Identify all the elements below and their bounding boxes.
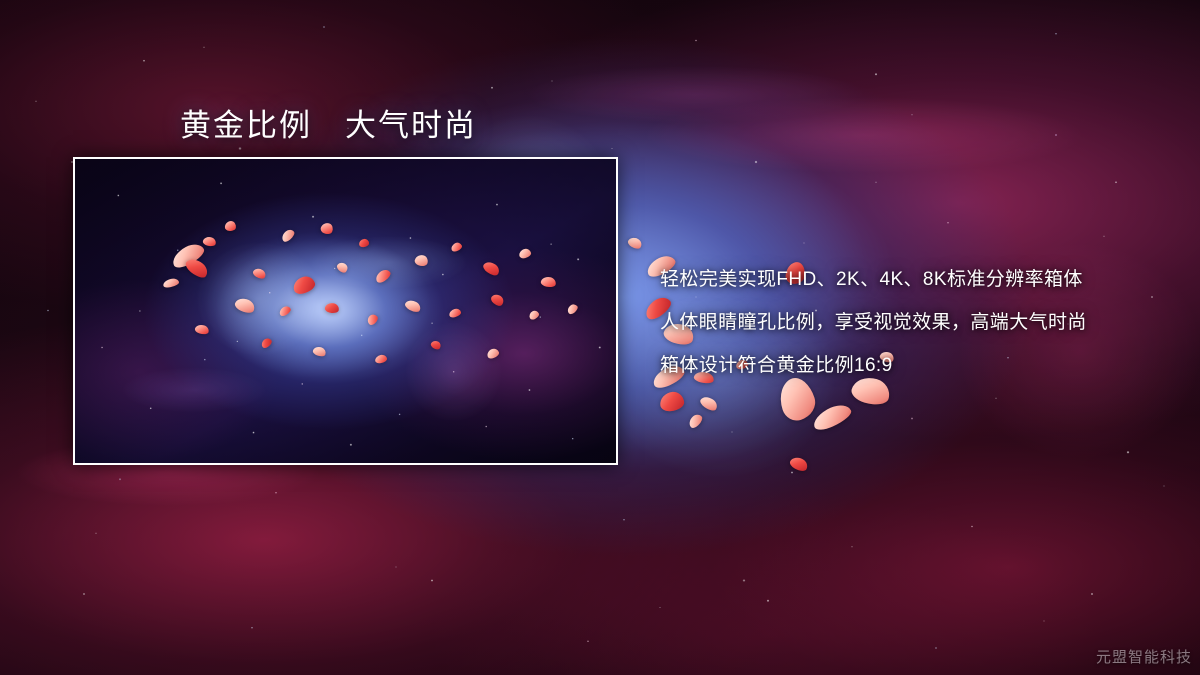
led-display-panel-preview[interactable] xyxy=(73,157,618,465)
body-copy-line-3: 箱体设计符合黄金比例16:9 xyxy=(660,344,1160,387)
page-title: 黄金比例 大气时尚 xyxy=(180,100,477,145)
presentation-slide: 黄金比例 大气时尚 轻松完美实现FHD、2K、4K、8K标准分辨率箱体 人体眼睛… xyxy=(0,0,1200,675)
panel-starfield xyxy=(75,159,616,463)
company-watermark: 元盟智能科技 xyxy=(1096,646,1192,667)
body-copy-block: 轻松完美实现FHD、2K、4K、8K标准分辨率箱体 人体眼睛瞳孔比例，享受视觉效… xyxy=(660,258,1160,387)
body-copy-line-1: 轻松完美实现FHD、2K、4K、8K标准分辨率箱体 xyxy=(660,258,1160,301)
body-copy-line-2: 人体眼睛瞳孔比例，享受视觉效果，高端大气时尚 xyxy=(660,301,1160,344)
